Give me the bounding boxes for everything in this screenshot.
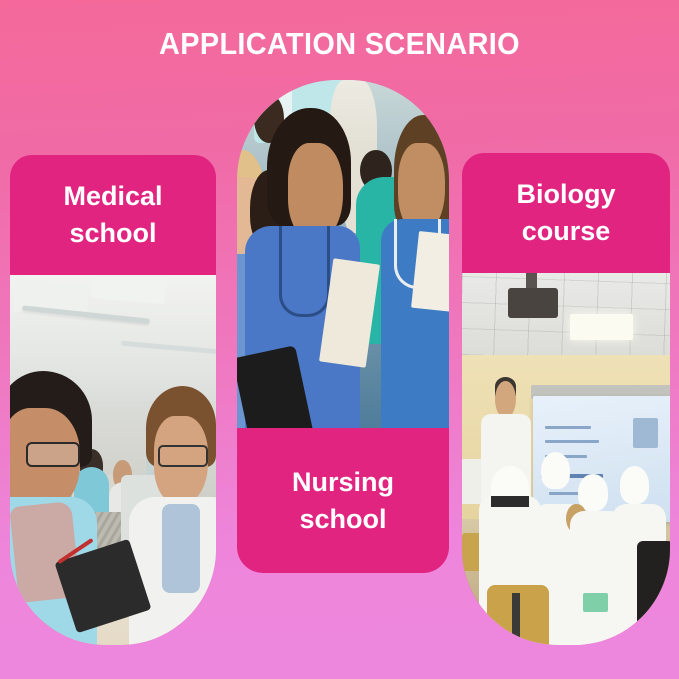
card-biology-course-label: Biology course — [462, 153, 670, 273]
medical-lab-students-photo — [10, 275, 216, 645]
card-biology-course[interactable]: Biology course — [462, 153, 670, 645]
page-title: APPLICATION SCENARIO — [24, 24, 655, 64]
nursing-students-scrubs-photo — [237, 80, 449, 428]
card-nursing-school-label: Nursing school — [237, 428, 449, 573]
card-nursing-school[interactable]: Nursing school — [237, 80, 449, 573]
biology-lecture-classroom-photo — [462, 273, 670, 645]
card-medical-school-label: Medical school — [10, 155, 216, 275]
card-medical-school[interactable]: Medical school — [10, 155, 216, 645]
